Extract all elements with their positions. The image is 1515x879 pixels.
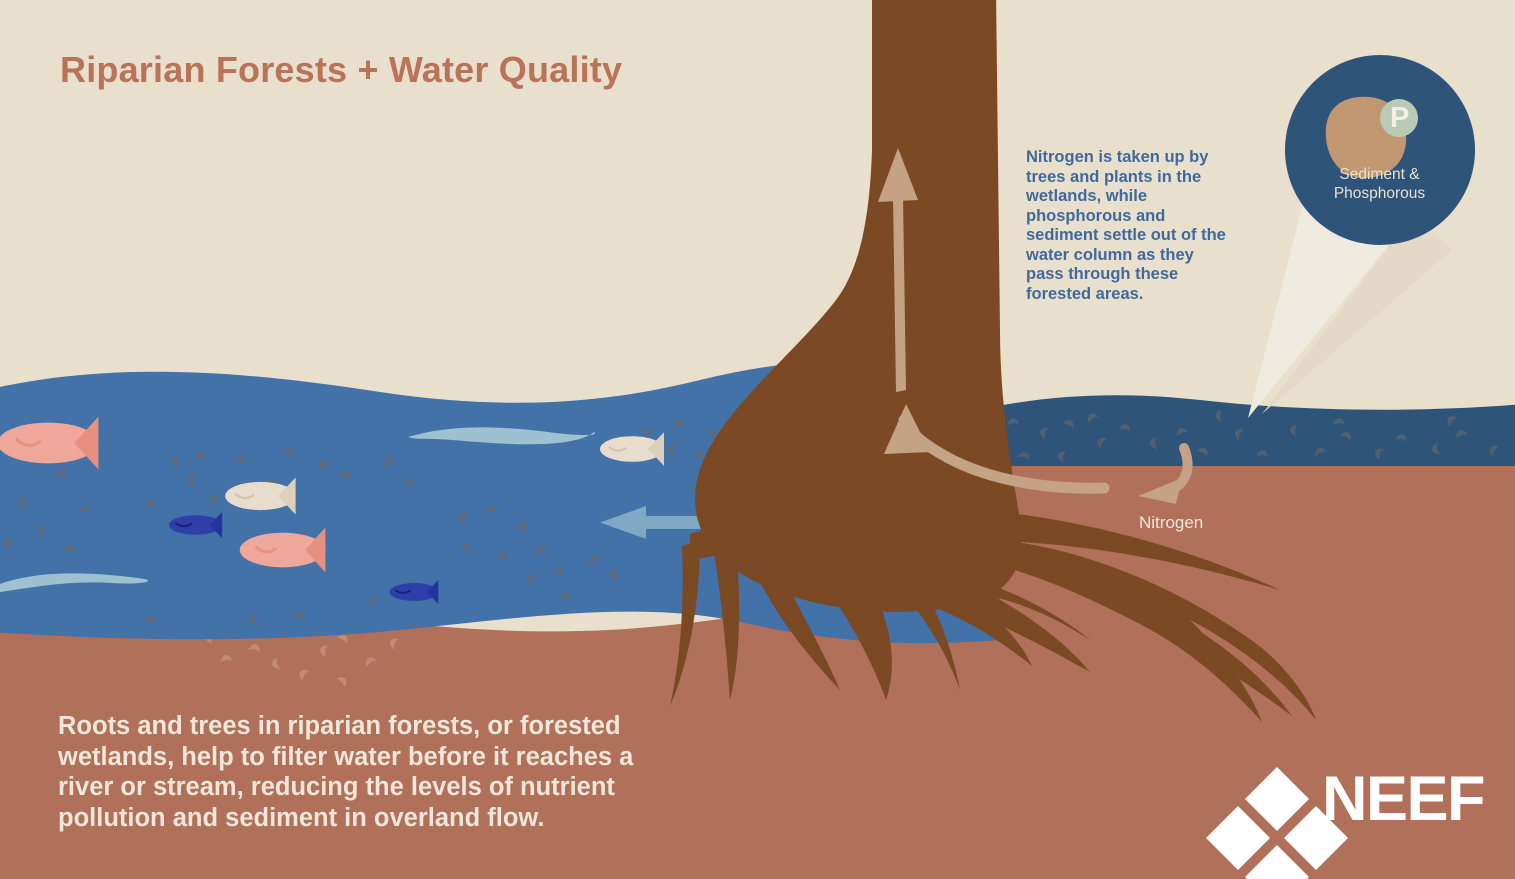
sediment-phosphorous-label: Sediment & Phosphorous xyxy=(1297,165,1462,203)
nitrogen-description-paragraph: Nitrogen is taken up by trees and plants… xyxy=(1026,148,1232,304)
page-title: Riparian Forests + Water Quality xyxy=(60,49,622,91)
infographic-canvas: Riparian Forests + Water Quality Nitroge… xyxy=(0,0,1515,879)
neef-wordmark: NEEF xyxy=(1322,768,1484,831)
roots-description-paragraph: Roots and trees in riparian forests, or … xyxy=(58,711,678,833)
phosphorous-marker-label: P xyxy=(1390,104,1409,133)
nitrogen-label: Nitrogen xyxy=(1139,513,1203,533)
magnifier-bubble xyxy=(1285,55,1475,245)
